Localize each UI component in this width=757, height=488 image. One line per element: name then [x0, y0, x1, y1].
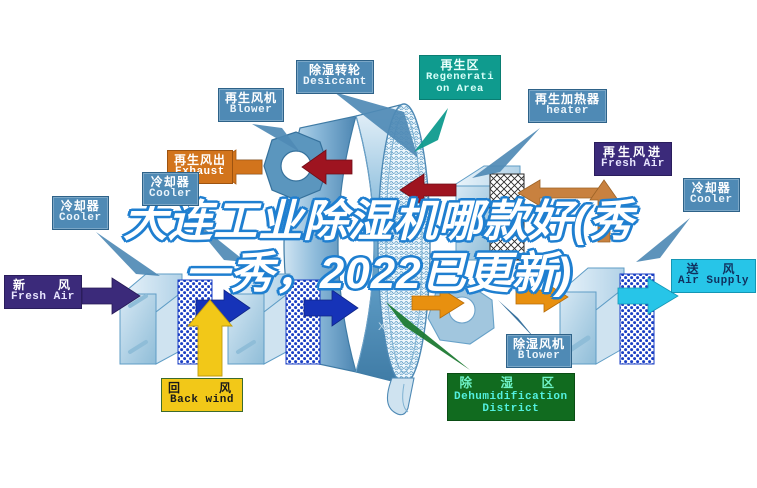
- regen-inlet-arrow: [518, 180, 604, 206]
- label-back-wind-en: Back wind: [168, 395, 236, 407]
- label-dehumid-district-en-2: District: [454, 403, 568, 416]
- label-dehumid-district: 除 湿 区 Dehumidification District: [447, 373, 575, 421]
- label-regen-heater-cn: 再生加热器: [535, 93, 600, 106]
- label-regen-fresh-air-in-cn: 再生风进: [601, 146, 665, 159]
- label-exhaust-cn: 再生风出: [174, 154, 226, 167]
- label-dehumid-district-en-1: Dehumidification: [454, 391, 568, 404]
- label-cooler-mid-cn: 冷却器: [149, 176, 192, 189]
- label-regen-heater-en: heater: [535, 106, 600, 118]
- label-cooler-right-en: Cooler: [690, 195, 733, 207]
- label-cooler-mid: 冷却器 Cooler: [142, 172, 199, 206]
- label-cooler-left-en: Cooler: [59, 213, 102, 225]
- label-dehumid-blower: 除湿风机 Blower: [506, 334, 572, 368]
- label-desiccant-cn: 除湿转轮: [303, 64, 367, 77]
- label-regen-area: 再生区 Regenerati on Area: [419, 55, 501, 100]
- label-fresh-air-en: Fresh Air: [11, 292, 75, 304]
- label-desiccant: 除湿转轮 Desiccant: [296, 60, 374, 94]
- label-air-supply-en: Air Supply: [678, 276, 749, 288]
- label-regen-area-en-1: Regenerati: [426, 72, 494, 84]
- label-regen-blower-en: Blower: [225, 105, 277, 117]
- label-dehumid-blower-en: Blower: [513, 351, 565, 363]
- regeneration-heater-coil: [456, 166, 524, 260]
- label-regen-area-en-2: on Area: [426, 84, 494, 96]
- label-back-wind: 回 风 Back wind: [161, 378, 243, 412]
- cooler-coil-2: [228, 274, 320, 364]
- label-cooler-right-cn: 冷却器: [690, 182, 733, 195]
- label-desiccant-en: Desiccant: [303, 77, 367, 89]
- label-dehumid-blower-cn: 除湿风机: [513, 338, 565, 351]
- dehumidifier-schematic-diagram: XI: [0, 0, 757, 488]
- svg-text:XI: XI: [378, 321, 388, 333]
- label-air-supply: 送 风 Air Supply: [671, 259, 756, 293]
- label-cooler-mid-en: Cooler: [149, 189, 192, 201]
- label-regen-area-cn: 再生区: [426, 59, 494, 72]
- label-regen-heater: 再生加热器 heater: [528, 89, 607, 123]
- label-regen-fresh-air-in: 再生风进 Fresh Air: [594, 142, 672, 176]
- label-regen-blower-cn: 再生风机: [225, 92, 277, 105]
- label-fresh-air-cn: 新 风: [11, 279, 75, 292]
- label-cooler-right: 冷却器 Cooler: [683, 178, 740, 212]
- diagram-canvas: XI: [0, 0, 757, 488]
- label-dehumid-district-cn: 除 湿 区: [454, 377, 568, 391]
- dehumidification-blower-housing: [428, 284, 494, 344]
- label-regen-blower: 再生风机 Blower: [218, 88, 284, 122]
- label-back-wind-cn: 回 风: [168, 382, 236, 395]
- label-cooler-left: 冷却器 Cooler: [52, 196, 109, 230]
- label-cooler-left-cn: 冷却器: [59, 200, 102, 213]
- cooler-coil-3: [560, 268, 654, 364]
- label-fresh-air: 新 风 Fresh Air: [4, 275, 82, 309]
- label-air-supply-cn: 送 风: [678, 263, 749, 276]
- label-regen-fresh-air-in-en: Fresh Air: [601, 159, 665, 171]
